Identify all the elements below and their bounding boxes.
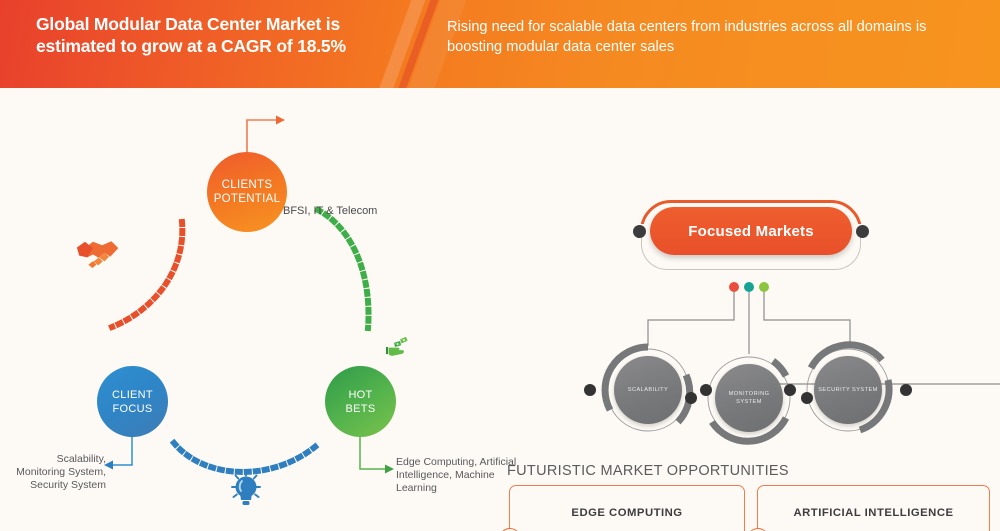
node-security-dot-left	[784, 384, 796, 396]
node-monitoring-dot-left	[685, 392, 697, 404]
arrowhead-hotbets	[385, 465, 394, 474]
futuristic-section-title: FUTURISTIC MARKET OPPORTUNITIES	[507, 463, 789, 479]
node-monitoring-system[interactable]: MONITORING SYSTEM	[706, 355, 792, 441]
status-dot-green	[759, 282, 769, 292]
arrowhead-bfsi	[276, 116, 285, 125]
annotation-client-focus: Scalability, Monitoring System, Security…	[14, 453, 106, 492]
connector-clientfocus-to-note	[112, 437, 132, 465]
node-monitoring-system-label: MONITORING SYSTEM	[715, 364, 783, 432]
bubble-clients-potential[interactable]: CLIENTS POTENTIAL	[207, 152, 287, 232]
node-scalability-label: SCALABILITY	[614, 356, 682, 424]
focused-markets-hub[interactable]: Focused Markets	[640, 200, 862, 280]
dotted-arc-orange	[112, 222, 182, 327]
connector-hotbets-to-note	[360, 437, 386, 469]
connector-clients-to-bfsi	[247, 120, 277, 152]
opportunity-box-artificial-intelligence[interactable]: ARTIFICIAL INTELLIGENCE	[757, 485, 990, 531]
connector-hub-to-security	[764, 292, 850, 346]
bubble-hot-bets[interactable]: HOT BETS	[325, 366, 396, 437]
handshake-icon	[77, 241, 118, 268]
dotted-arc-blue	[174, 443, 316, 472]
node-scalability[interactable]: SCALABILITY	[605, 347, 691, 433]
header-title: Global Modular Data Center Market is est…	[36, 13, 396, 57]
status-dot-teal	[744, 282, 754, 292]
lightbulb-icon	[232, 471, 260, 505]
connector-hub-to-scalability	[648, 292, 734, 346]
opportunity-box-artificial-intelligence-label: ARTIFICIAL INTELLIGENCE	[793, 507, 953, 519]
header-subtitle: Rising need for scalable data centers fr…	[447, 17, 967, 57]
hub-dot-left	[633, 225, 646, 238]
infographic-root: Global Modular Data Center Market is est…	[0, 0, 1000, 531]
node-scalability-dot-left	[584, 384, 596, 396]
opportunity-box-edge-computing[interactable]: EDGE COMPUTING	[509, 485, 745, 531]
node-security-system[interactable]: SECURITY SYSTEM	[805, 347, 891, 433]
bubble-client-focus-label: CLIENT FOCUS	[106, 388, 159, 416]
bubble-hot-bets-label: HOT BETS	[340, 388, 382, 416]
header-banner: Global Modular Data Center Market is est…	[0, 0, 1000, 88]
annotation-bfsi: BFSI, IT & Telecom	[283, 205, 377, 218]
node-security-dot-right	[900, 384, 912, 396]
dotted-arc-green	[318, 210, 369, 328]
hub-dot-right	[856, 225, 869, 238]
bubble-clients-potential-label: CLIENTS POTENTIAL	[208, 178, 287, 206]
node-security-system-label: SECURITY SYSTEM	[814, 356, 882, 424]
diagram-canvas: CLIENTS POTENTIAL CLIENT FOCUS HOT BETS …	[0, 88, 1000, 531]
hub-pill[interactable]: Focused Markets	[650, 207, 852, 255]
bubble-client-focus[interactable]: CLIENT FOCUS	[97, 366, 168, 437]
money-in-hand-icon	[386, 337, 408, 356]
opportunity-box-edge-computing-label: EDGE COMPUTING	[571, 507, 682, 519]
status-dot-red	[729, 282, 739, 292]
